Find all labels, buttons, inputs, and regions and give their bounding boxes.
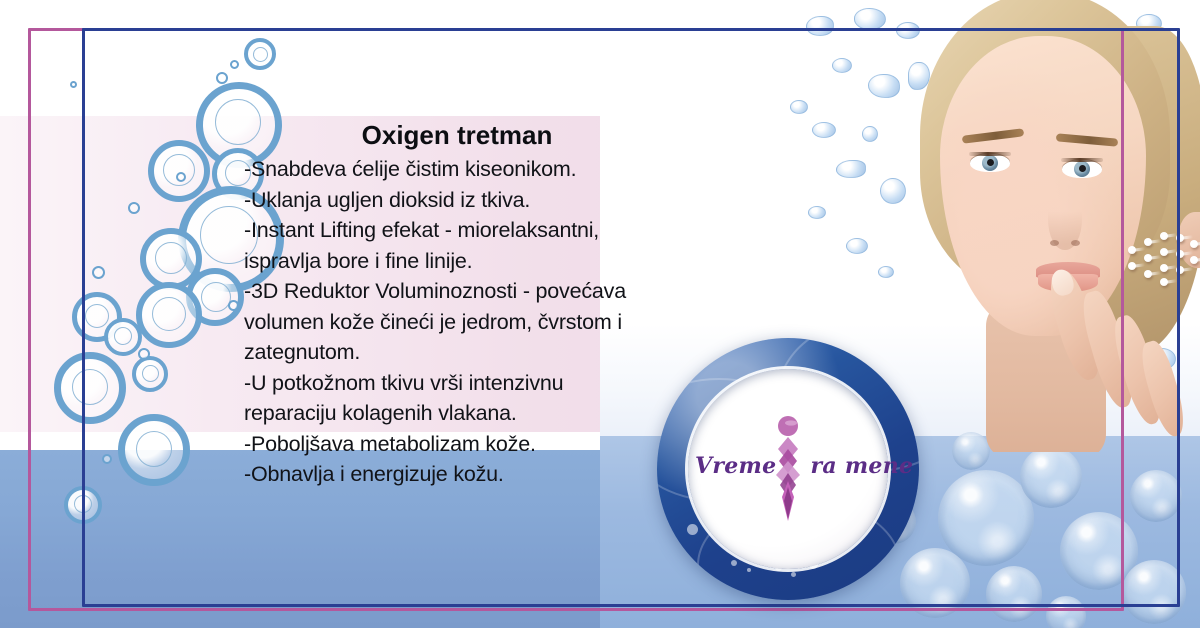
- logo-lockup: Vremera mene: [695, 409, 881, 529]
- logo-badge: Vremera mene: [657, 338, 919, 600]
- nostril-right: [1071, 240, 1080, 246]
- eyelash-left: [969, 152, 1011, 156]
- logo-text: Vremera mene: [695, 453, 881, 479]
- pupil-right: [1079, 165, 1086, 172]
- copy-line-2: -Instant Lifting efekat - miorelaksantni…: [244, 215, 664, 246]
- iris-right: [1074, 161, 1090, 177]
- eye-left: [970, 154, 1010, 172]
- treatment-copy-block: Oxigen tretman -Snabdeva ćelije čistim k…: [244, 118, 664, 490]
- promo-poster: Oxigen tretman -Snabdeva ćelije čistim k…: [0, 0, 1200, 628]
- logo-text-after: ra mene: [810, 453, 913, 479]
- eyebrow-right: [1056, 133, 1118, 146]
- iris-left: [982, 155, 998, 171]
- nose: [1048, 186, 1082, 250]
- eyelash-right: [1061, 158, 1103, 162]
- eye-right: [1062, 160, 1102, 178]
- copy-line-5: volumen kože čineći je jedrom, čvrstom i: [244, 307, 664, 338]
- copy-line-3: ispravlja bore i fine linije.: [244, 246, 664, 277]
- logo-badge-inner: Vremera mene: [688, 369, 888, 569]
- pupil-left: [987, 159, 994, 166]
- copy-line-7: -U potkožnom tkivu vrši intenzivnu: [244, 368, 664, 399]
- page-title: Oxigen tretman: [250, 118, 664, 152]
- copy-line-9: -Poboljšava metabolizam kože.: [244, 429, 664, 460]
- copy-line-8: reparaciju kolagenih vlakana.: [244, 398, 664, 429]
- nostril-left: [1050, 240, 1059, 246]
- copy-line-0: -Snabdeva ćelije čistim kiseonikom.: [244, 154, 664, 185]
- logo-text-before: Vreme: [695, 453, 776, 479]
- copy-line-1: -Uklanja ugljen dioksid iz tkiva.: [244, 185, 664, 216]
- copy-line-6: zategnutom.: [244, 337, 664, 368]
- eyebrow-left: [962, 128, 1025, 143]
- copy-line-10: -Obnavlja i energizuje kožu.: [244, 459, 664, 490]
- copy-line-4: -3D Reduktor Voluminoznosti - povećava: [244, 276, 664, 307]
